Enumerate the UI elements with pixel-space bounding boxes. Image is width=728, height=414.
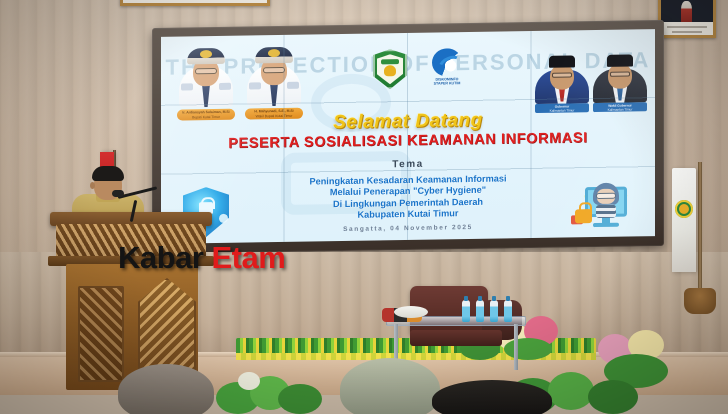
carved-wooden-podium bbox=[56, 212, 206, 390]
audience-head bbox=[432, 380, 552, 414]
flag-stand-base bbox=[684, 288, 716, 314]
water-bottle bbox=[462, 300, 470, 322]
official-photo-wakil-bupati: H. Mahyunadi, S.E., M.Si Wakil Bupati Ku… bbox=[245, 41, 303, 120]
flag-emblem-icon bbox=[675, 200, 693, 218]
diskominfo-logo: DISKOMINFO STAPER KUTIM bbox=[427, 48, 467, 91]
water-bottle bbox=[476, 300, 484, 322]
framed-portrait-left bbox=[120, 0, 270, 6]
led-video-wall-screen: THE PROTECTION OF PERSONAL DATA Ir. Ardi… bbox=[161, 29, 655, 244]
water-bottle bbox=[504, 300, 512, 322]
audience-head bbox=[340, 358, 440, 414]
framed-portrait-right bbox=[658, 0, 716, 38]
flower-arrangement bbox=[216, 372, 326, 414]
regency-flag-white-emblem bbox=[672, 168, 696, 272]
theme-text-block: Peningkatan Kesadaran Keamanan Informasi… bbox=[161, 171, 655, 224]
kabar-etam-watermark: Kabar Etam bbox=[118, 240, 285, 276]
snack-tray bbox=[394, 306, 428, 318]
water-bottle bbox=[490, 300, 498, 322]
podium-microphone-head bbox=[112, 190, 124, 197]
watermark-part-1: Kabar bbox=[118, 240, 203, 275]
audience-head bbox=[118, 364, 214, 414]
flagpole-regency bbox=[698, 162, 702, 302]
official-photo-wakil-gubernur: Wakil Gubernur Kalimantan Timur bbox=[593, 49, 647, 112]
watermark-part-2: Etam bbox=[203, 240, 285, 275]
official-photo-bupati: Ir. Ardiansyah Sulaiman, M.Si Bupati Kut… bbox=[177, 42, 235, 121]
official-photo-gubernur: Gubernur Kalimantan Timur bbox=[535, 50, 589, 113]
portrait-caption bbox=[123, 0, 267, 3]
diskominfo-swoosh-icon bbox=[432, 48, 462, 76]
conference-hall-scene: THE PROTECTION OF PERSONAL DATA Ir. Ardi… bbox=[0, 0, 728, 414]
led-video-wall-bezel: THE PROTECTION OF PERSONAL DATA Ir. Ardi… bbox=[152, 20, 664, 254]
podium-carved-panel-left bbox=[78, 286, 124, 382]
portrait-caption bbox=[661, 22, 713, 35]
portrait-photo bbox=[661, 0, 713, 22]
